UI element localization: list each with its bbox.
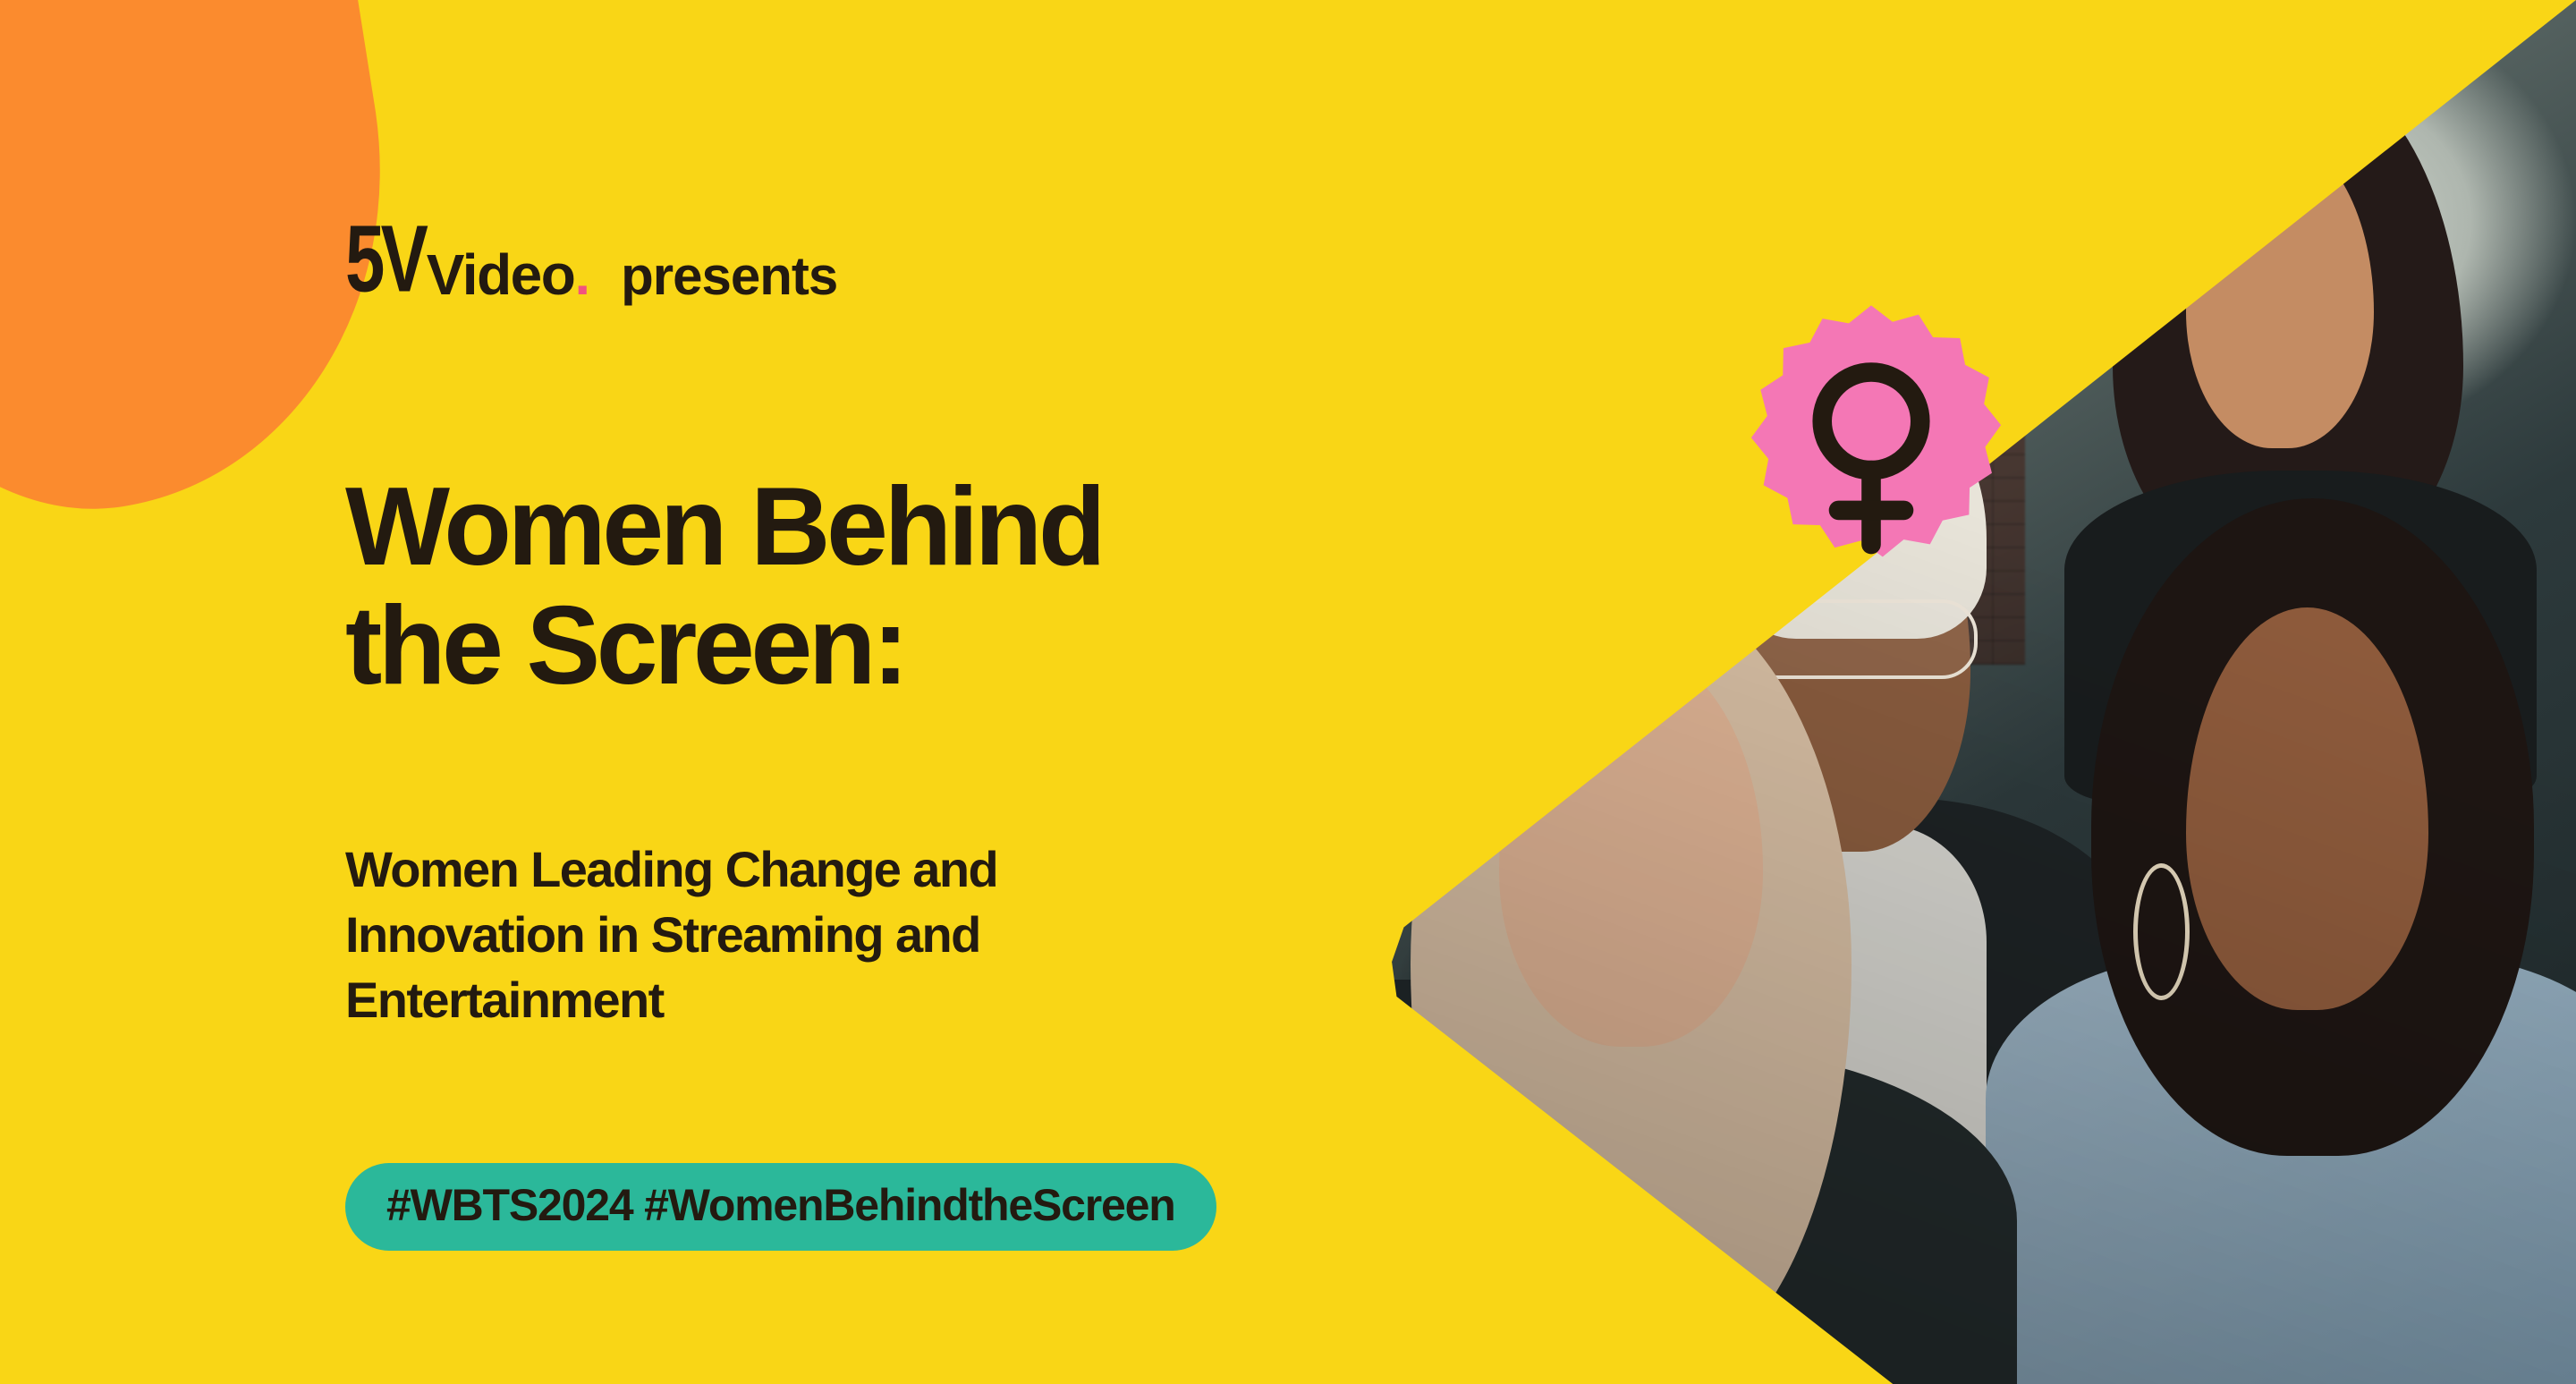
brand-lockup: 5V Video . presents: [345, 231, 837, 306]
text-column: 5V Video . presents Women Behind the Scr…: [345, 0, 1401, 1384]
logo-video-word: Video: [427, 246, 575, 303]
hero-photo: [1377, 0, 2576, 1384]
subtitle: Women Leading Change and Innovation in S…: [345, 837, 1293, 1032]
hashtag-text: #WBTS2024 #WomenBehindtheScreen: [386, 1183, 1175, 1227]
poster-canvas: 5V Video . presents Women Behind the Scr…: [0, 0, 2576, 1384]
page-title: Women Behind the Screen:: [345, 468, 1347, 705]
presents-label: presents: [621, 250, 837, 303]
photo-shading: [1377, 0, 2576, 1384]
logo-5v-mark: 5V: [345, 211, 424, 306]
logo-dot-icon: .: [574, 246, 590, 303]
hashtag-badge: #WBTS2024 #WomenBehindtheScreen: [345, 1163, 1216, 1251]
female-symbol-badge: [1723, 302, 2020, 599]
